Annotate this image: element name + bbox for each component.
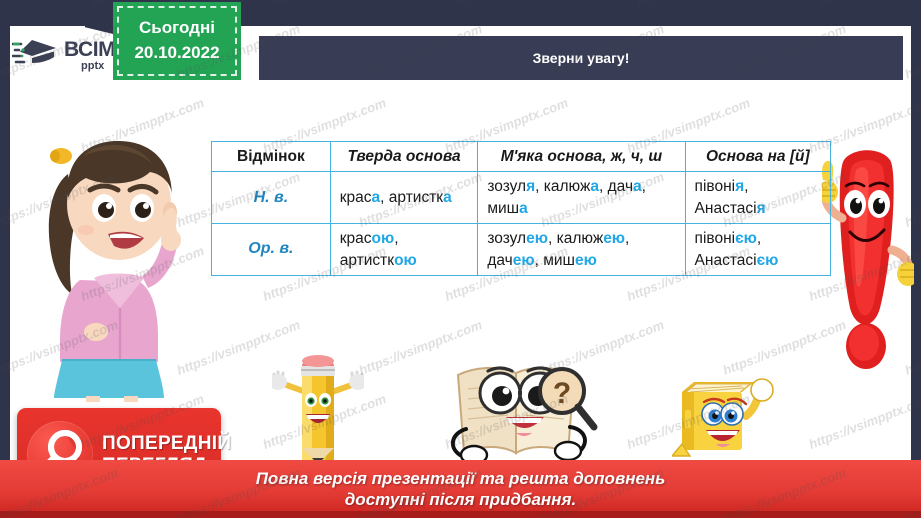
girl-character [24, 112, 204, 402]
open-book-character: ? [428, 355, 608, 465]
word-ending: а [372, 189, 381, 206]
word-ending: а [443, 189, 452, 206]
logo-primary-text: ВСІМ [64, 40, 115, 60]
purchase-notice-banner: Повна версія презентації та решта доповн… [0, 460, 921, 518]
word-ending: єю [735, 230, 757, 247]
grammar-table: Відмінок Тверда основа М'яка основа, ж, … [211, 141, 831, 276]
watermark-text: https://vsimpptx.com [0, 0, 34, 8]
pencil-character [272, 352, 364, 464]
watermark-text: https://vsimpptx.com [817, 0, 921, 8]
yellow-book-character [672, 364, 782, 464]
cell-soft-nominative: зозуля, калюжа, дача, миша [478, 172, 685, 224]
case-label: Н. в. [254, 189, 289, 206]
grammar-table-wrapper: Відмінок Тверда основа М'яка основа, ж, … [211, 141, 831, 276]
page-title: Зверни увагу! [533, 50, 630, 66]
word-ending: я [757, 200, 766, 217]
graduation-cap-icon [12, 36, 60, 76]
word-ending: я [735, 178, 744, 195]
purchase-notice-line1: Повна версія презентації та решта доповн… [256, 468, 666, 489]
table-header-case: Відмінок [212, 142, 331, 172]
word-ending: ою [394, 252, 417, 269]
row-case-nominative: Н. в. [212, 172, 331, 224]
date-badge-label: Сьогодні [139, 16, 215, 41]
word-ending: ою [372, 230, 395, 247]
cell-yot-nominative: півонія, Анастасія [685, 172, 830, 224]
table-header-row: Відмінок Тверда основа М'яка основа, ж, … [212, 142, 831, 172]
word-ending: ею [526, 230, 548, 247]
cell-yot-instrumental: півонією, Анастасією [685, 224, 830, 276]
word-ending: ею [603, 230, 625, 247]
slide-canvas: ВСІМ pptx Сьогодні 20.10.2022 Зверни ува… [0, 0, 921, 518]
word-ending: єю [757, 252, 779, 269]
date-badge-value: 20.10.2022 [134, 41, 219, 66]
watermark-text: https://vsimpptx.com [453, 0, 580, 8]
word-ending: а [590, 178, 599, 195]
word-ending: я [526, 178, 535, 195]
table-row: Ор. в. красою, артисткою зозулею, калюже… [212, 224, 831, 276]
cell-hard-nominative: краса, артистка [330, 172, 478, 224]
date-badge: Сьогодні 20.10.2022 [113, 2, 241, 80]
exclamation-character [822, 140, 914, 380]
word-ending: ею [513, 252, 535, 269]
slide-header-bar: Зверни увагу! [259, 36, 903, 80]
watermark-text: https://vsimpptx.com [635, 0, 762, 8]
cell-soft-instrumental: зозулею, калюжею, дачею, мишею [478, 224, 685, 276]
logo-secondary-text: pptx [81, 61, 115, 71]
word-ending: а [519, 200, 528, 217]
table-header-soft: М'яка основа, ж, ч, ш [478, 142, 685, 172]
table-header-yot: Основа на [й] [685, 142, 830, 172]
watermark-text: https://vsimpptx.com [271, 0, 398, 8]
cell-hard-instrumental: красою, артисткою [330, 224, 478, 276]
preview-button-line1: ПОПЕРЕДНІЙ [102, 434, 231, 453]
row-case-instrumental: Ор. в. [212, 224, 331, 276]
word-ending: ею [575, 252, 597, 269]
table-header-hard: Тверда основа [330, 142, 478, 172]
table-row: Н. в. краса, артистка зозуля, калюжа, да… [212, 172, 831, 224]
word-ending: а [633, 178, 642, 195]
case-label: Ор. в. [248, 240, 293, 257]
purchase-notice-line2: доступні після придбання. [345, 489, 576, 510]
svg-text:?: ? [553, 377, 571, 410]
